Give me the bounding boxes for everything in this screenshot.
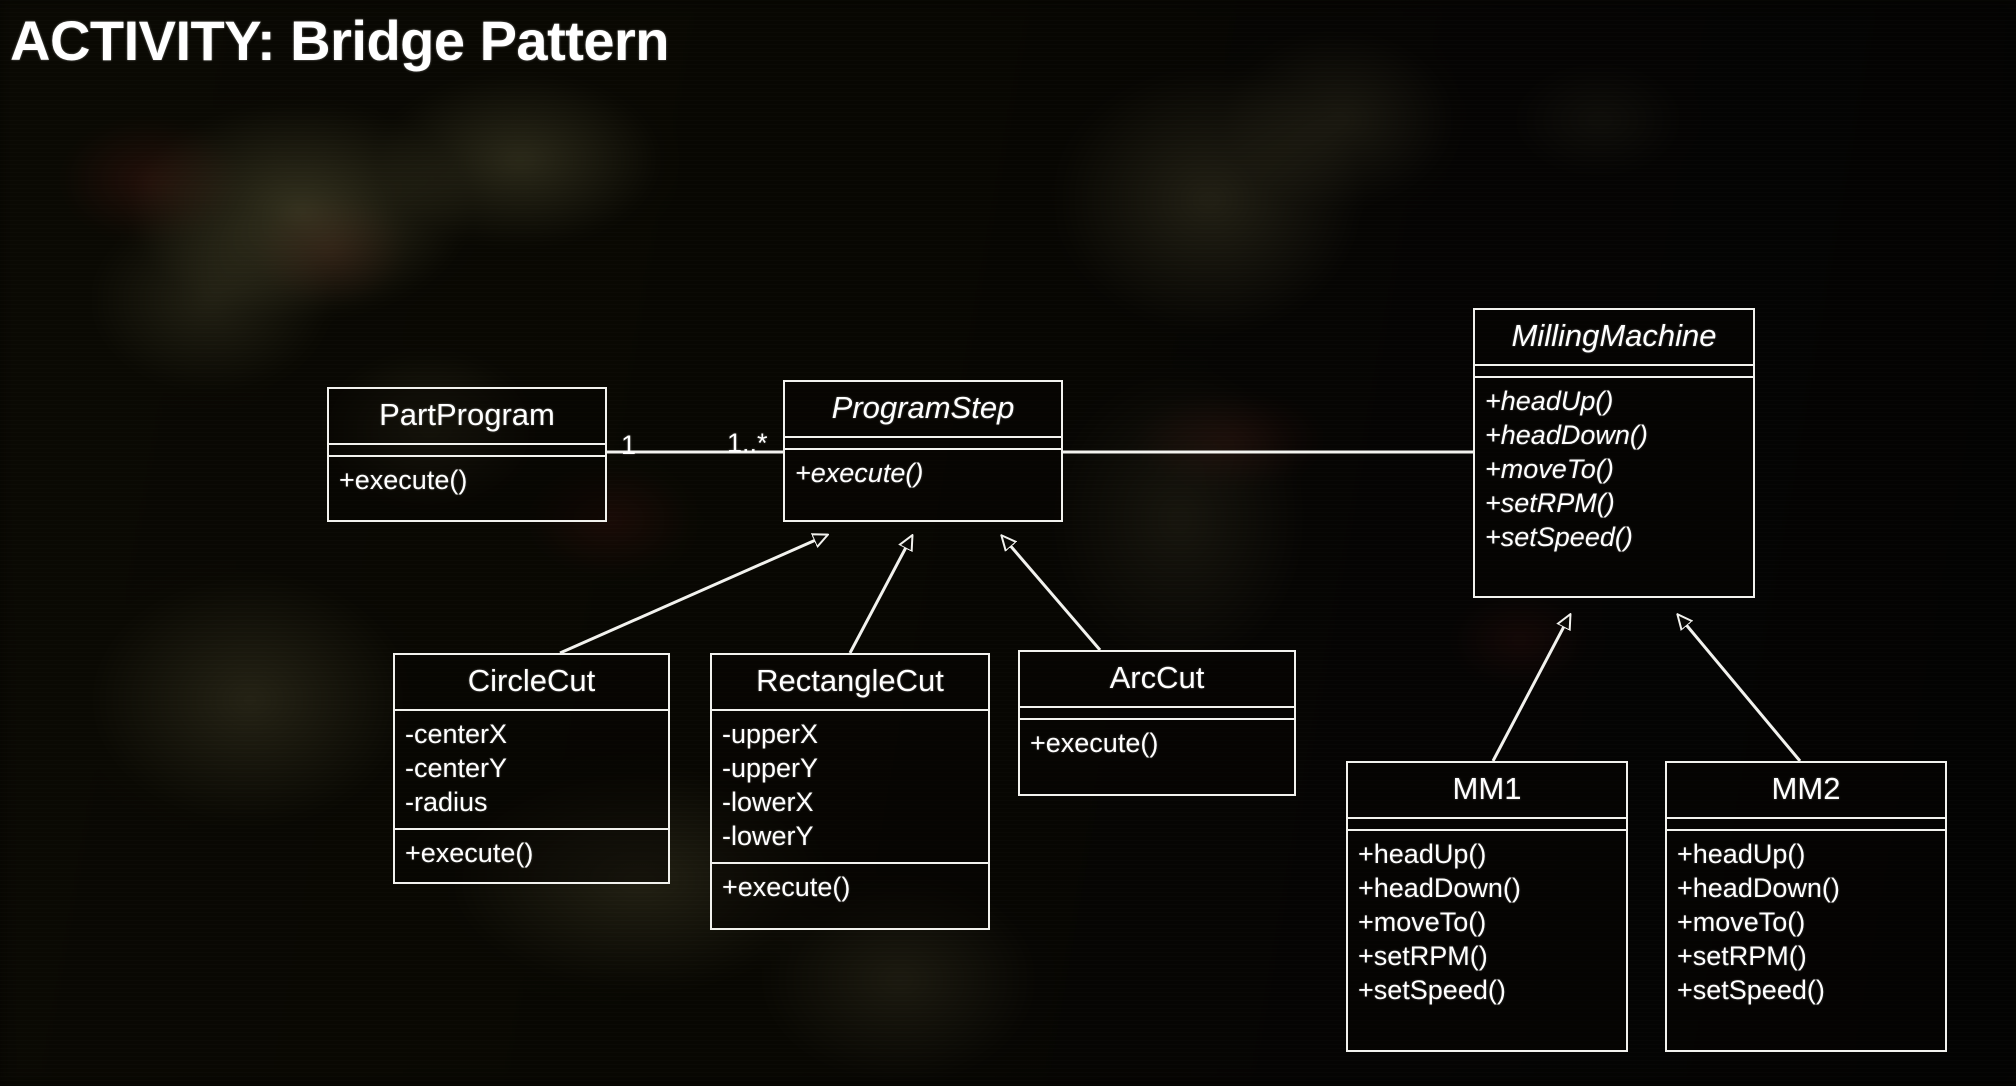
generalization-circlecut-programstep [560,535,827,653]
multiplicity-label-mult-one: 1 [621,430,636,461]
uml-class-mm1: MM1+headUp()+headDown()+moveTo()+setRPM(… [1346,761,1628,1052]
uml-attributes-mm1 [1348,817,1626,829]
uml-operation: +setRPM() [1677,940,1935,974]
uml-attributes-part-program [329,443,605,455]
uml-class-name-arc-cut: ArcCut [1020,652,1294,706]
uml-class-circle-cut: CircleCut-centerX-centerY-radius+execute… [393,653,670,884]
uml-class-name-mm2: MM2 [1667,763,1945,817]
uml-operation: +headDown() [1677,872,1935,906]
uml-operation: +setRPM() [1485,487,1743,521]
uml-class-milling-machine: MillingMachine+headUp()+headDown()+moveT… [1473,308,1755,598]
uml-operation: +moveTo() [1358,906,1616,940]
uml-class-mm2: MM2+headUp()+headDown()+moveTo()+setRPM(… [1665,761,1947,1052]
uml-operation: +setSpeed() [1485,521,1743,555]
uml-attribute: -radius [405,786,658,820]
uml-operations-mm2: +headUp()+headDown()+moveTo()+setRPM()+s… [1667,829,1945,1016]
generalization-arccut-programstep [1002,536,1100,650]
uml-operations-mm1: +headUp()+headDown()+moveTo()+setRPM()+s… [1348,829,1626,1016]
uml-class-name-program-step: ProgramStep [785,382,1061,436]
uml-operation: +headUp() [1485,385,1743,419]
uml-operations-circle-cut: +execute() [395,828,668,879]
uml-attributes-rectangle-cut: -upperX-upperY-lowerX-lowerY [712,709,988,862]
uml-operation: +execute() [795,457,1051,491]
uml-class-name-circle-cut: CircleCut [395,655,668,709]
uml-operation: +setSpeed() [1358,974,1616,1008]
uml-attributes-milling-machine [1475,364,1753,376]
uml-operation: +execute() [405,837,658,871]
uml-class-arc-cut: ArcCut+execute() [1018,650,1296,796]
multiplicity-label-mult-one-many: 1..* [727,428,768,459]
generalization-rectanglecut-programstep [850,536,912,653]
uml-operation: +headDown() [1358,872,1616,906]
uml-attribute: -centerY [405,752,658,786]
uml-attributes-arc-cut [1020,706,1294,718]
uml-operation: +setRPM() [1358,940,1616,974]
generalization-mm1-millingmachine [1493,615,1570,761]
uml-operation: +moveTo() [1485,453,1743,487]
uml-operation: +headUp() [1677,838,1935,872]
uml-attribute: -upperY [722,752,978,786]
uml-attributes-circle-cut: -centerX-centerY-radius [395,709,668,828]
uml-attribute: -upperX [722,718,978,752]
uml-class-name-part-program: PartProgram [329,389,605,443]
uml-operation: +execute() [1030,727,1284,761]
slide-canvas: ACTIVITY: Bridge Pattern PartProgram+exe… [0,0,2016,1086]
uml-operations-part-program: +execute() [329,455,605,506]
uml-class-name-milling-machine: MillingMachine [1475,310,1753,364]
uml-class-part-program: PartProgram+execute() [327,387,607,522]
uml-class-name-mm1: MM1 [1348,763,1626,817]
uml-attributes-mm2 [1667,817,1945,829]
uml-operation: +headDown() [1485,419,1743,453]
uml-operation: +execute() [722,871,978,905]
uml-operation: +setSpeed() [1677,974,1935,1008]
uml-attribute: -lowerX [722,786,978,820]
uml-operations-rectangle-cut: +execute() [712,862,988,913]
uml-operation: +moveTo() [1677,906,1935,940]
generalization-mm2-millingmachine [1678,615,1800,761]
uml-operations-program-step: +execute() [785,448,1061,499]
uml-operations-arc-cut: +execute() [1020,718,1294,769]
uml-class-rectangle-cut: RectangleCut-upperX-upperY-lowerX-lowerY… [710,653,990,930]
uml-operation: +execute() [339,464,595,498]
uml-attribute: -lowerY [722,820,978,854]
uml-operations-milling-machine: +headUp()+headDown()+moveTo()+setRPM()+s… [1475,376,1753,563]
uml-attribute: -centerX [405,718,658,752]
uml-attributes-program-step [785,436,1061,448]
uml-class-program-step: ProgramStep+execute() [783,380,1063,522]
uml-operation: +headUp() [1358,838,1616,872]
uml-class-name-rectangle-cut: RectangleCut [712,655,988,709]
